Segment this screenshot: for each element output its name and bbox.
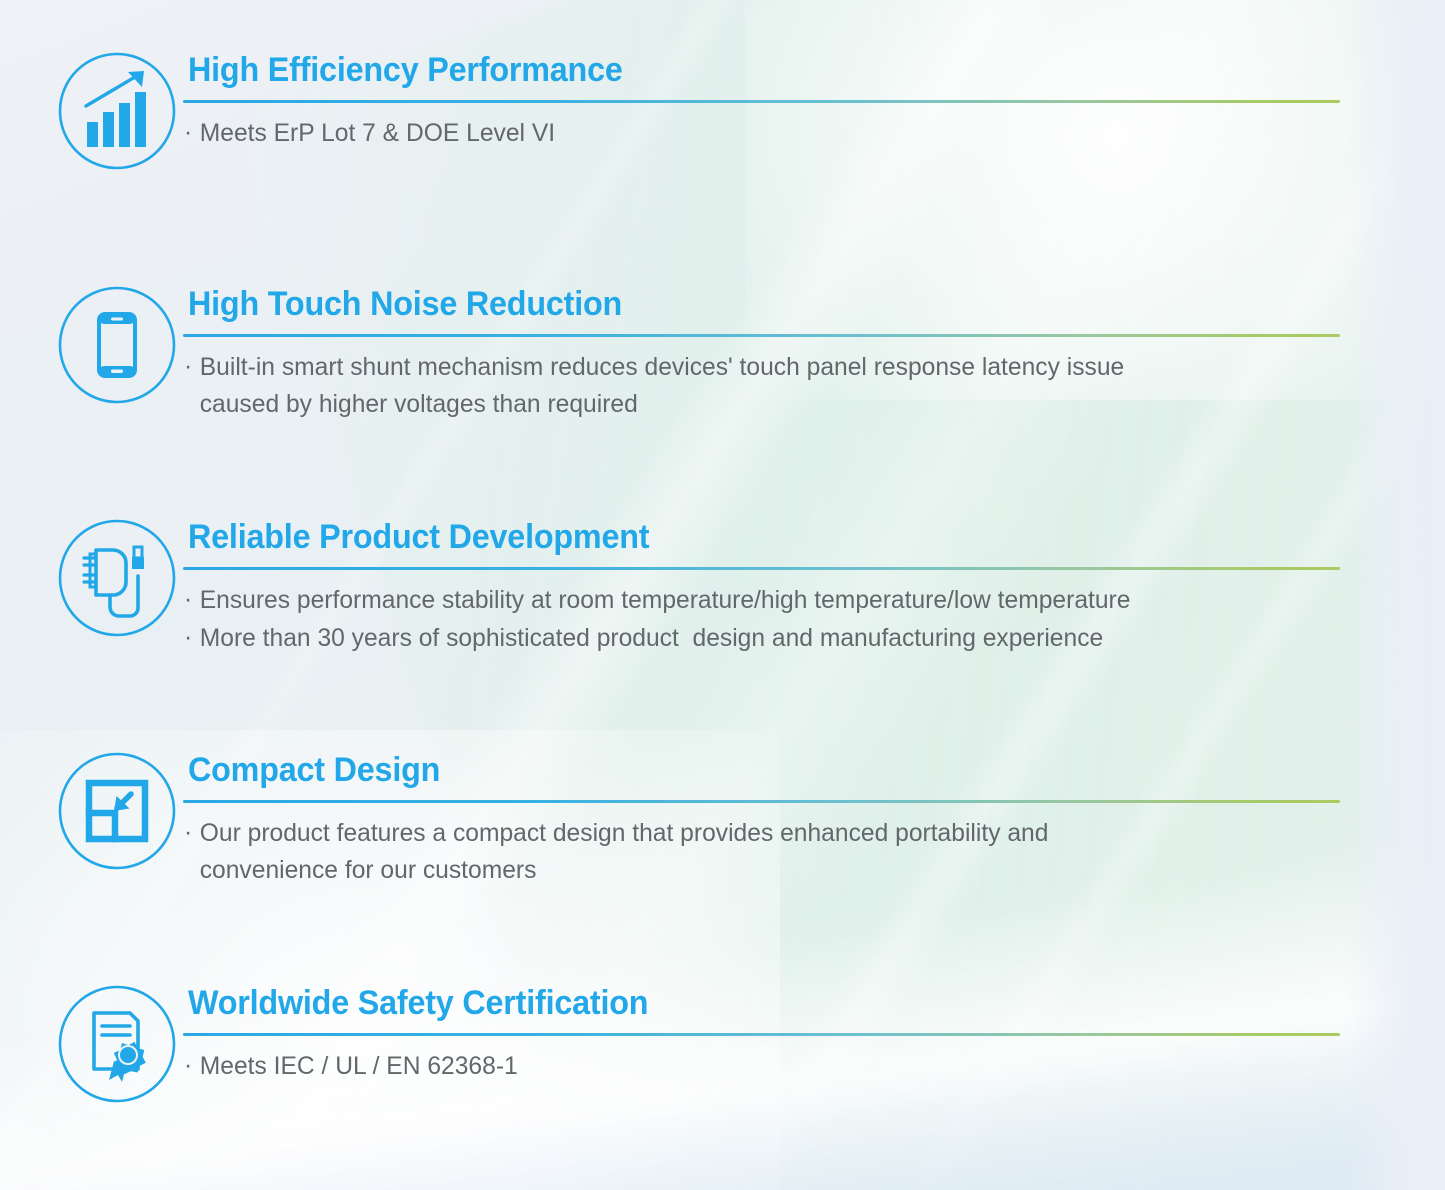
feature-text-container: Compact Design Our product features a co…	[182, 748, 1382, 890]
feature-bullet: Our product features a compact design th…	[182, 815, 1364, 889]
feature-text-container: High Touch Noise Reduction Built-in smar…	[182, 282, 1382, 424]
feature-text-container: Reliable Product Development Ensures per…	[182, 515, 1382, 658]
smartphone-icon	[56, 284, 178, 406]
feature-bullet: More than 30 years of sophisticated prod…	[182, 620, 1364, 657]
bar-chart-growth-icon	[56, 50, 178, 172]
feature-divider	[183, 567, 1340, 570]
compact-resize-icon	[56, 750, 178, 872]
feature-title: Reliable Product Development	[188, 517, 1322, 557]
feature-bullet: Ensures performance stability at room te…	[182, 582, 1364, 619]
feature-item-compact-design: Compact Design Our product features a co…	[52, 748, 1382, 890]
feature-title: Compact Design	[188, 750, 1322, 790]
feature-text-container: Worldwide Safety Certification Meets IEC…	[182, 981, 1382, 1086]
feature-divider	[183, 1033, 1340, 1036]
feature-item-high-touch-noise-reduction: High Touch Noise Reduction Built-in smar…	[52, 282, 1382, 424]
feature-bullet-list: Meets ErP Lot 7 & DOE Level VI	[182, 115, 1382, 152]
feature-item-high-efficiency-performance: High Efficiency Performance Meets ErP Lo…	[52, 48, 1382, 172]
feature-title: High Efficiency Performance	[188, 50, 1322, 90]
feature-text-container: High Efficiency Performance Meets ErP Lo…	[182, 48, 1382, 153]
feature-divider	[183, 100, 1340, 103]
feature-icon-container	[52, 282, 182, 406]
feature-divider	[183, 334, 1340, 337]
feature-icon-container	[52, 48, 182, 172]
feature-bullet: Meets IEC / UL / EN 62368-1	[182, 1048, 1364, 1085]
feature-item-reliable-product-development: Reliable Product Development Ensures per…	[52, 515, 1382, 658]
feature-divider	[183, 800, 1340, 803]
feature-icon-container	[52, 748, 182, 872]
feature-bullet-list: Ensures performance stability at room te…	[182, 582, 1382, 657]
feature-icon-container	[52, 515, 182, 639]
feature-title: High Touch Noise Reduction	[188, 284, 1322, 324]
certificate-award-icon	[56, 983, 178, 1105]
feature-icon-container	[52, 981, 182, 1105]
feature-highlights-page: High Efficiency Performance Meets ErP Lo…	[0, 0, 1445, 1190]
feature-bullet: Meets ErP Lot 7 & DOE Level VI	[182, 115, 1364, 152]
feature-bullet: Built-in smart shunt mechanism reduces d…	[182, 349, 1364, 423]
feature-bullet-list: Built-in smart shunt mechanism reduces d…	[182, 349, 1382, 423]
feature-bullet-list: Meets IEC / UL / EN 62368-1	[182, 1048, 1382, 1085]
power-adapter-icon	[56, 517, 178, 639]
feature-item-worldwide-safety-certification: Worldwide Safety Certification Meets IEC…	[52, 981, 1382, 1105]
feature-title: Worldwide Safety Certification	[188, 983, 1322, 1023]
feature-bullet-list: Our product features a compact design th…	[182, 815, 1382, 889]
